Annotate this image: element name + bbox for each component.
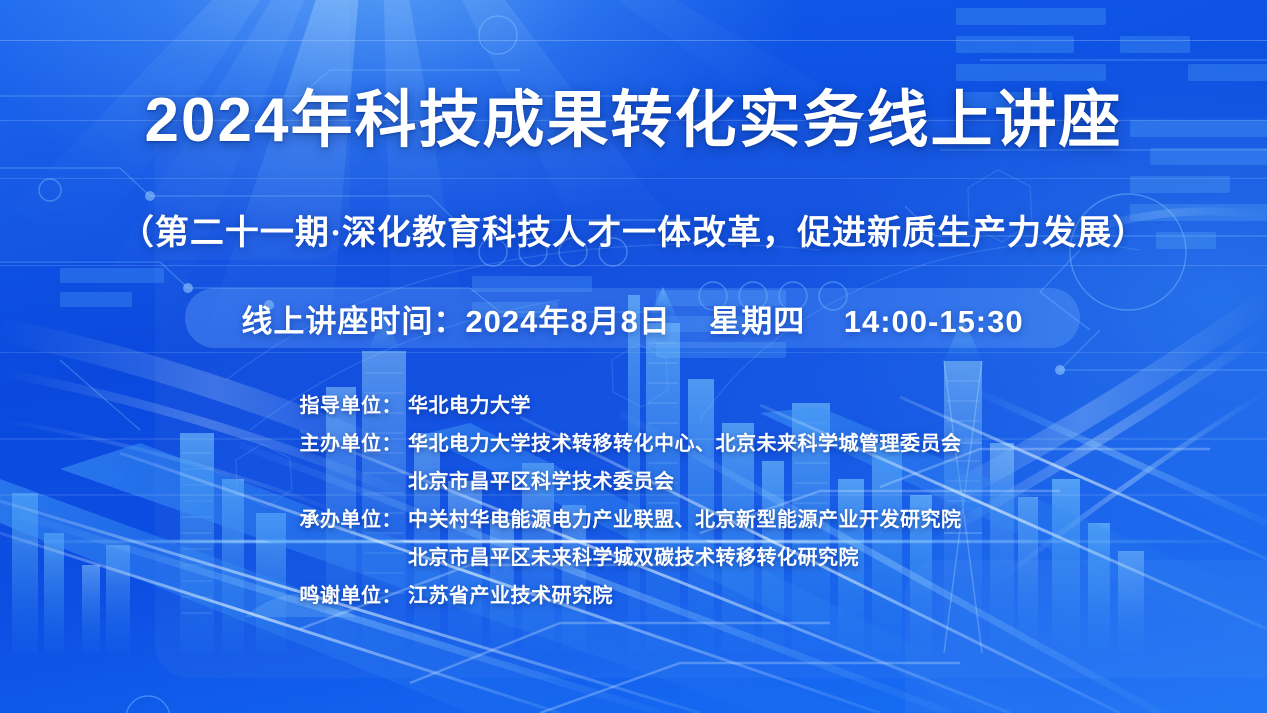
credit-row: 指导单位： 华北电力大学 — [0, 392, 1267, 420]
credit-label — [0, 544, 402, 572]
credit-value: 华北电力大学 — [402, 392, 531, 420]
credit-label: 承办单位： — [0, 506, 402, 534]
poster-content: 2024年科技成果转化实务线上讲座 （第二十一期·深化教育科技人才一体改革，促进… — [0, 0, 1267, 713]
credit-row: 承办单位： 中关村华电能源电力产业联盟、北京新型能源产业开发研究院 — [0, 506, 1267, 534]
credit-value: 北京市昌平区未来科学城双碳技术转移转化研究院 — [402, 544, 859, 572]
credits-list: 指导单位： 华北电力大学 主办单位： 华北电力大学技术转移转化中心、北京未来科学… — [0, 392, 1267, 610]
poster-canvas: 2024年科技成果转化实务线上讲座 （第二十一期·深化教育科技人才一体改革，促进… — [0, 0, 1267, 713]
credit-value: 北京市昌平区科学技术委员会 — [402, 468, 675, 496]
credit-label: 指导单位： — [0, 392, 402, 420]
credit-label — [0, 468, 402, 496]
credit-row: 鸣谢单位： 江苏省产业技术研究院 — [0, 582, 1267, 610]
lecture-time-text: 线上讲座时间：2024年8月8日 星期四 14:00-15:30 — [241, 296, 1023, 341]
credit-value: 中关村华电能源电力产业联盟、北京新型能源产业开发研究院 — [402, 506, 962, 534]
lecture-time-banner: 线上讲座时间：2024年8月8日 星期四 14:00-15:30 — [185, 288, 1080, 348]
credit-row: 北京市昌平区科学技术委员会 — [0, 468, 1267, 496]
credit-row: 北京市昌平区未来科学城双碳技术转移转化研究院 — [0, 544, 1267, 572]
page-title: 2024年科技成果转化实务线上讲座 — [0, 88, 1267, 153]
credit-label: 鸣谢单位： — [0, 582, 402, 610]
credit-label: 主办单位： — [0, 430, 402, 458]
page-subtitle: （第二十一期·深化教育科技人才一体改革，促进新质生产力发展） — [0, 205, 1267, 254]
credit-value: 江苏省产业技术研究院 — [402, 582, 613, 610]
credit-value: 华北电力大学技术转移转化中心、北京未来科学城管理委员会 — [402, 430, 962, 458]
credit-row: 主办单位： 华北电力大学技术转移转化中心、北京未来科学城管理委员会 — [0, 430, 1267, 458]
